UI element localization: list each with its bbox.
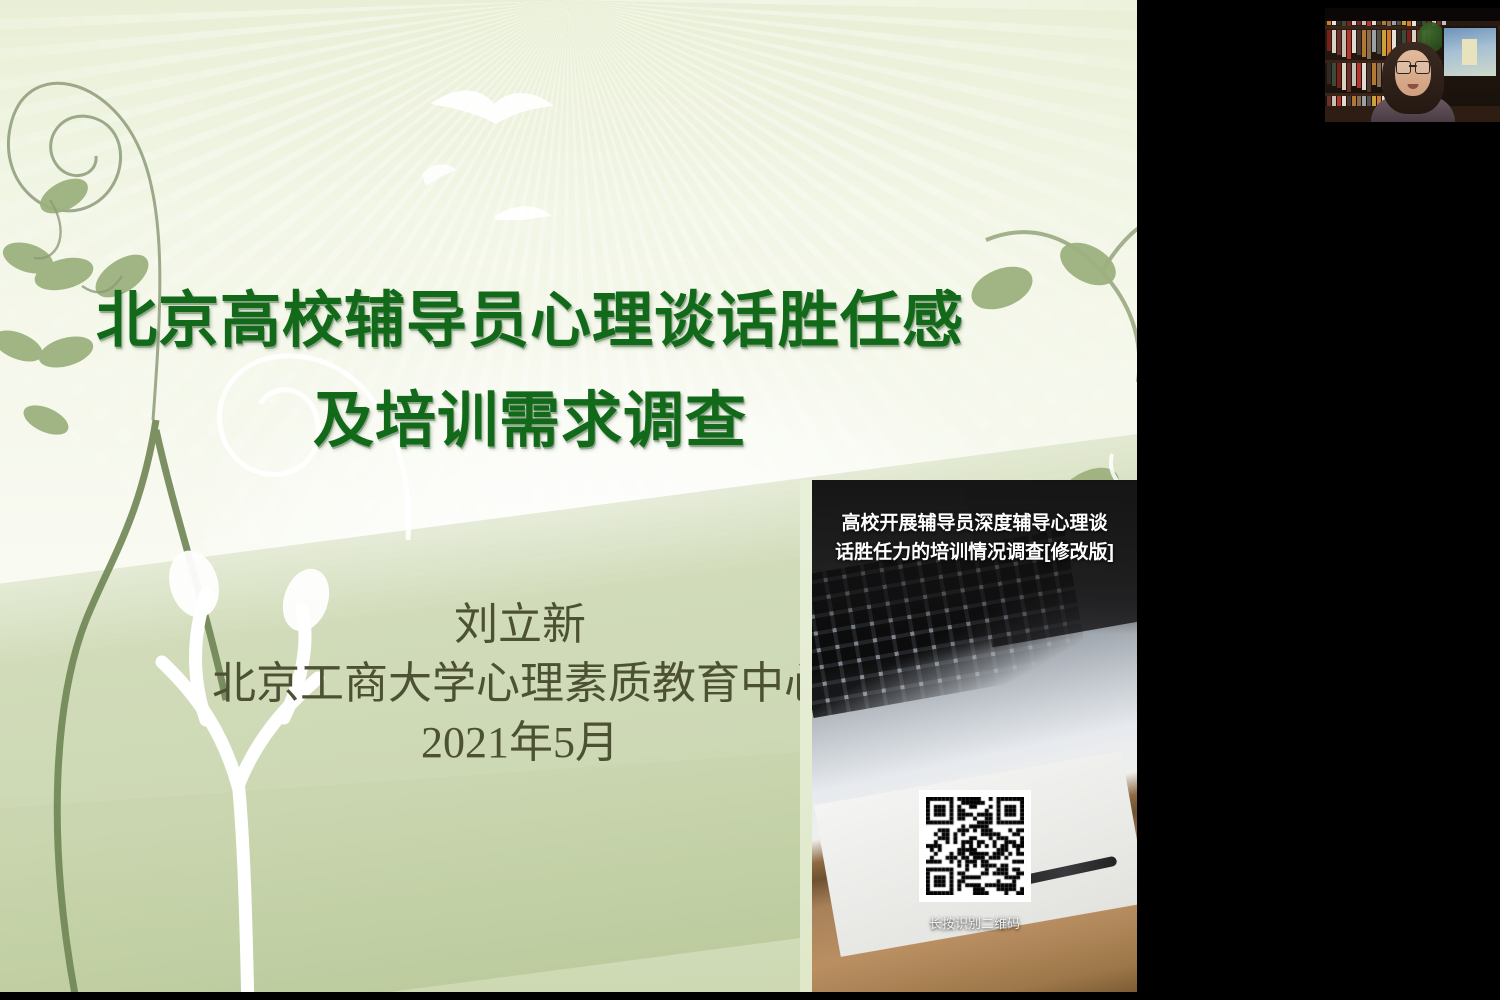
picture-frame-inner (1462, 39, 1478, 66)
qr-code[interactable] (919, 790, 1031, 902)
slide-title-line-2: 及培训需求调查 (0, 386, 1060, 454)
presentation-screen: 北京高校辅导员心理谈话胜任感 及培训需求调查 刘立新 北京工商大学心理素质教育中… (0, 0, 1500, 1000)
speaker-glasses (1396, 61, 1430, 72)
slide-title-line-1: 北京高校辅导员心理谈话胜任感 (0, 286, 1060, 354)
survey-promo-card[interactable]: 高校开展辅导员深度辅导心理谈话胜任力的培训情况调查[修改版] 长按识别二维码 (812, 480, 1137, 992)
card-title-text: 高校开展辅导员深度辅导心理谈话胜任力的培训情况调查[修改版] (834, 510, 1115, 568)
bookshelf-top-edge (1325, 8, 1500, 21)
slide-title: 北京高校辅导员心理谈话胜任感 及培训需求调查 (0, 286, 1060, 455)
slide-canvas: 北京高校辅导员心理谈话胜任感 及培训需求调查 刘立新 北京工商大学心理素质教育中… (0, 0, 1137, 992)
speaker-figure (1374, 44, 1452, 122)
qr-caption: 长按识别二维码 (919, 913, 1031, 932)
qr-section: 长按识别二维码 (919, 790, 1031, 932)
speaker-webcam-thumbnail[interactable] (1325, 8, 1500, 122)
